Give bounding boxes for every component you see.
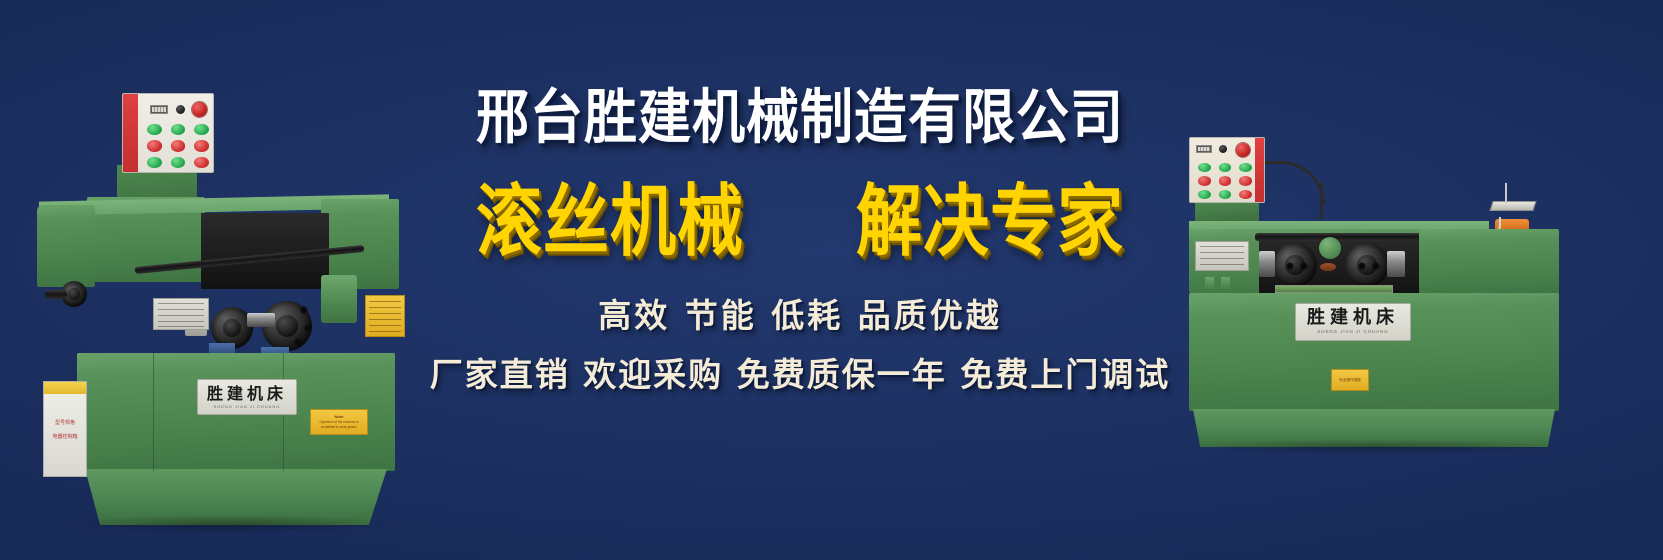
nameplate-cn-text: 胜建机床: [207, 386, 287, 402]
headline-row: 滚丝机械 解决专家: [400, 183, 1200, 249]
machine-slide-block-right-2: [1387, 251, 1405, 277]
control-panel-right[interactable]: [1189, 137, 1265, 203]
panel-knob-left[interactable]: [176, 105, 185, 114]
panel-button[interactable]: [194, 157, 209, 168]
panel-button[interactable]: [147, 157, 162, 168]
machine-ground-shadow-right: [1195, 439, 1555, 455]
machine-nameplate-right: 胜建机床 SHENG JIAN JI CHUANG: [1295, 303, 1411, 341]
panel-button[interactable]: [1239, 176, 1252, 185]
machine-latch: [1221, 277, 1230, 289]
panel-button[interactable]: [194, 140, 209, 151]
feeder-plate-right: [1489, 201, 1536, 211]
panel-display-left: [150, 105, 168, 114]
panel-button[interactable]: [171, 140, 186, 151]
company-name: 邢台胜建机械制造有限公司: [400, 88, 1200, 147]
coupling-shaft-left: [45, 290, 67, 299]
warning-label-right: 安全操作规程: [1331, 369, 1369, 391]
panel-button[interactable]: [1219, 190, 1232, 199]
tagline-line-1: 高效 节能 低耗 品质优越: [400, 299, 1200, 332]
machine-ground-shadow-left: [65, 515, 395, 533]
emergency-stop-button-right[interactable]: [1236, 143, 1250, 157]
panel-button[interactable]: [194, 124, 209, 135]
electrical-box-text-2: 电器控制箱: [44, 434, 86, 440]
panel-button-grid-left[interactable]: [147, 124, 209, 168]
thread-rolling-machine-right: 胜建机床 SHENG JIAN JI CHUANG 安全操作规程: [1165, 125, 1585, 465]
panel-button[interactable]: [1219, 163, 1232, 172]
nameplate-pinyin-text: SHENG JIAN JI CHUANG: [1317, 330, 1388, 334]
machine-motor-cap-left: [321, 275, 357, 323]
panel-button[interactable]: [1239, 163, 1252, 172]
nameplate-pinyin-text: SHENG JIAN JI CHUANG: [214, 405, 281, 409]
roller-bolt: [1373, 263, 1379, 269]
emergency-stop-button-left[interactable]: [192, 102, 207, 117]
machine-hose-right: [1265, 161, 1325, 205]
panel-button[interactable]: [1219, 176, 1232, 185]
panel-button[interactable]: [147, 124, 162, 135]
electrical-box-left: 型号规格 电器控制箱: [43, 381, 87, 477]
thread-rolling-machine-left: 胜建机床 SHENG JIAN JI CHUANG Note Operation…: [25, 85, 415, 475]
spec-plate-left: [153, 298, 209, 330]
machine-top-shaft-right: [1255, 233, 1445, 241]
roller-bolt: [1301, 263, 1307, 269]
machine-slide-block-right-1: [1259, 251, 1275, 277]
banner-text-block: 邢台胜建机械制造有限公司 滚丝机械 解决专家 高效 节能 低耗 品质优越 厂家直…: [400, 88, 1200, 448]
headline-left: 滚丝机械: [476, 183, 744, 261]
machine-right-end-block-right: [1419, 229, 1559, 295]
electrical-box-top-label: [44, 382, 86, 394]
panel-red-strip-right: [1255, 138, 1264, 202]
machine-cam-indicator-right: [1320, 263, 1336, 271]
panel-button[interactable]: [1239, 190, 1252, 199]
panel-button[interactable]: [171, 124, 186, 135]
roller-bolt: [301, 307, 307, 313]
roller-bolt: [305, 325, 311, 331]
panel-button[interactable]: [171, 157, 186, 168]
machine-slide-block-left-1: [209, 343, 235, 353]
machine-left-end-block: [37, 205, 95, 287]
panel-button-grid-right[interactable]: [1198, 163, 1252, 199]
warning-label-text: Operation of the machine is prohibited t…: [311, 420, 367, 429]
panel-button[interactable]: [147, 140, 162, 151]
roller-bolt: [295, 339, 301, 345]
machine-cam-disc-right: [1319, 237, 1341, 259]
tagline-line-2: 厂家直销 欢迎采购 免费质保一年 免费上门调试: [400, 358, 1200, 391]
feeder-post-right: [1505, 183, 1507, 203]
machine-latch: [1205, 277, 1214, 289]
coolant-tray-right: [1275, 285, 1393, 293]
warning-label-text: 安全操作规程: [1339, 378, 1361, 383]
panel-red-strip-left: [123, 94, 138, 172]
headline-right: 解决专家: [856, 183, 1124, 261]
electrical-box-text-1: 型号规格: [44, 420, 86, 426]
roller-bolt: [1359, 263, 1365, 269]
warning-label-title: Note: [335, 415, 344, 419]
cabinet-seam: [153, 353, 154, 471]
spec-plate-right-machine: [1195, 241, 1249, 271]
machine-spindle-left: [247, 313, 275, 327]
control-panel-left[interactable]: [122, 93, 214, 173]
machine-hose-drop-right: [1320, 183, 1323, 219]
roller-head-right-1: [1273, 243, 1317, 287]
roller-head-right-2: [1345, 243, 1389, 287]
roller-bolt: [1287, 263, 1293, 269]
warning-label-left: Note Operation of the machine is prohibi…: [310, 409, 368, 435]
spec-label-right-left-machine: [365, 295, 405, 337]
nameplate-cn-text: 胜建机床: [1307, 309, 1399, 327]
machine-nameplate-left: 胜建机床 SHENG JIAN JI CHUANG: [197, 379, 297, 415]
panel-knob-right[interactable]: [1219, 145, 1227, 153]
promo-banner: 胜建机床 SHENG JIAN JI CHUANG Note Operation…: [0, 0, 1663, 560]
